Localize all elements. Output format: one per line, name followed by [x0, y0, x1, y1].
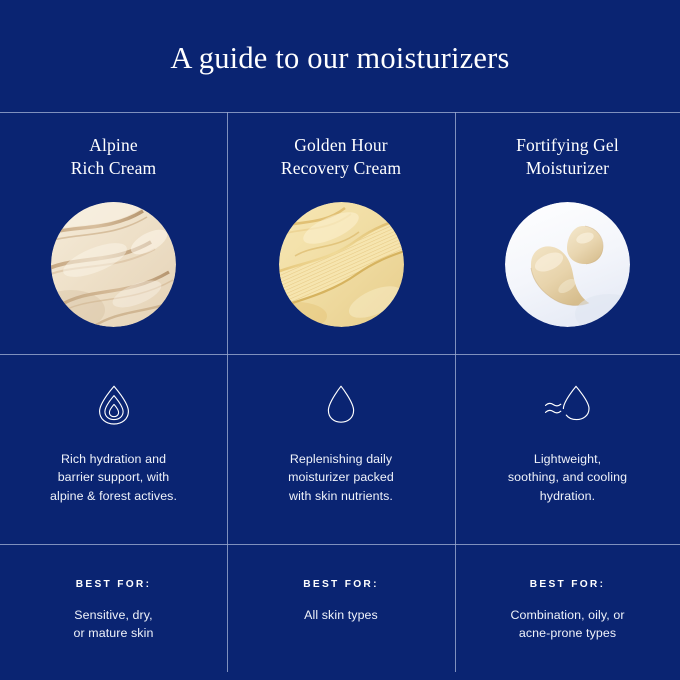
benefit-cell: Rich hydration and barrier support, with…	[0, 354, 227, 544]
description-line1: Replenishing daily	[290, 452, 392, 466]
product-image-wrap	[227, 202, 455, 327]
description-line2: soothing, and cooling	[508, 470, 627, 484]
best-for-line1: All skin types	[304, 608, 378, 622]
product-column-golden-hour-recovery-cream[interactable]: Golden Hour Recovery Cream	[227, 112, 455, 680]
moisturizer-guide-infographic: A guide to our moisturizers Alpine Rich …	[0, 0, 680, 680]
best-for-cell: BEST FOR: All skin types	[227, 544, 455, 680]
product-column-fortifying-gel-moisturizer[interactable]: Fortifying Gel Moisturizer	[455, 112, 680, 680]
product-name-line2: Recovery Cream	[281, 158, 401, 178]
description-line3: with skin nutrients.	[289, 489, 393, 503]
page-title: A guide to our moisturizers	[0, 0, 680, 112]
best-for-value: Sensitive, dry, or mature skin	[0, 606, 227, 643]
product-columns: Alpine Rich Cream	[0, 112, 680, 680]
best-for-line1: Sensitive, dry,	[74, 608, 152, 622]
product-description: Replenishing daily moisturizer packed wi…	[227, 450, 455, 505]
description-line3: hydration.	[540, 489, 595, 503]
product-column-alpine-rich-cream[interactable]: Alpine Rich Cream	[0, 112, 227, 680]
best-for-line2: acne-prone types	[519, 626, 616, 640]
best-for-label: BEST FOR:	[227, 579, 455, 590]
product-header-cell: Alpine Rich Cream	[0, 112, 227, 354]
description-line1: Lightweight,	[534, 452, 601, 466]
product-name: Golden Hour Recovery Cream	[227, 134, 455, 179]
product-description: Lightweight, soothing, and cooling hydra…	[455, 450, 680, 505]
best-for-label: BEST FOR:	[0, 579, 227, 590]
product-header-cell: Golden Hour Recovery Cream	[227, 112, 455, 354]
cream-texture-swatch[interactable]	[51, 202, 176, 327]
benefit-cell: Replenishing daily moisturizer packed wi…	[227, 354, 455, 544]
product-name-line1: Alpine	[89, 135, 138, 155]
description-line1: Rich hydration and	[61, 452, 166, 466]
product-name: Fortifying Gel Moisturizer	[455, 134, 680, 179]
product-header-cell: Fortifying Gel Moisturizer	[455, 112, 680, 354]
best-for-line2: or mature skin	[74, 626, 154, 640]
description-line2: barrier support, with	[58, 470, 170, 484]
product-image-wrap	[0, 202, 227, 327]
best-for-value: Combination, oily, or acne-prone types	[455, 606, 680, 643]
product-image-wrap	[455, 202, 680, 327]
product-name-line1: Golden Hour	[294, 135, 388, 155]
benefit-cell: Lightweight, soothing, and cooling hydra…	[455, 354, 680, 544]
product-name-line2: Rich Cream	[71, 158, 157, 178]
gel-droplets-swatch[interactable]	[505, 202, 630, 327]
cooling-droplet-icon	[455, 384, 680, 422]
product-description: Rich hydration and barrier support, with…	[0, 450, 227, 505]
description-line3: alpine & forest actives.	[50, 489, 177, 503]
title-band: A guide to our moisturizers	[0, 0, 680, 112]
best-for-line1: Combination, oily, or	[510, 608, 624, 622]
product-name-line1: Fortifying Gel	[516, 135, 619, 155]
golden-cream-texture-swatch[interactable]	[279, 202, 404, 327]
product-name-line2: Moisturizer	[526, 158, 609, 178]
product-name: Alpine Rich Cream	[0, 134, 227, 179]
description-line2: moisturizer packed	[288, 470, 394, 484]
best-for-value: All skin types	[227, 606, 455, 624]
droplet-icon	[227, 384, 455, 424]
best-for-cell: BEST FOR: Sensitive, dry, or mature skin	[0, 544, 227, 680]
best-for-label: BEST FOR:	[455, 579, 680, 590]
best-for-cell: BEST FOR: Combination, oily, or acne-pro…	[455, 544, 680, 680]
nested-droplet-icon	[0, 384, 227, 426]
